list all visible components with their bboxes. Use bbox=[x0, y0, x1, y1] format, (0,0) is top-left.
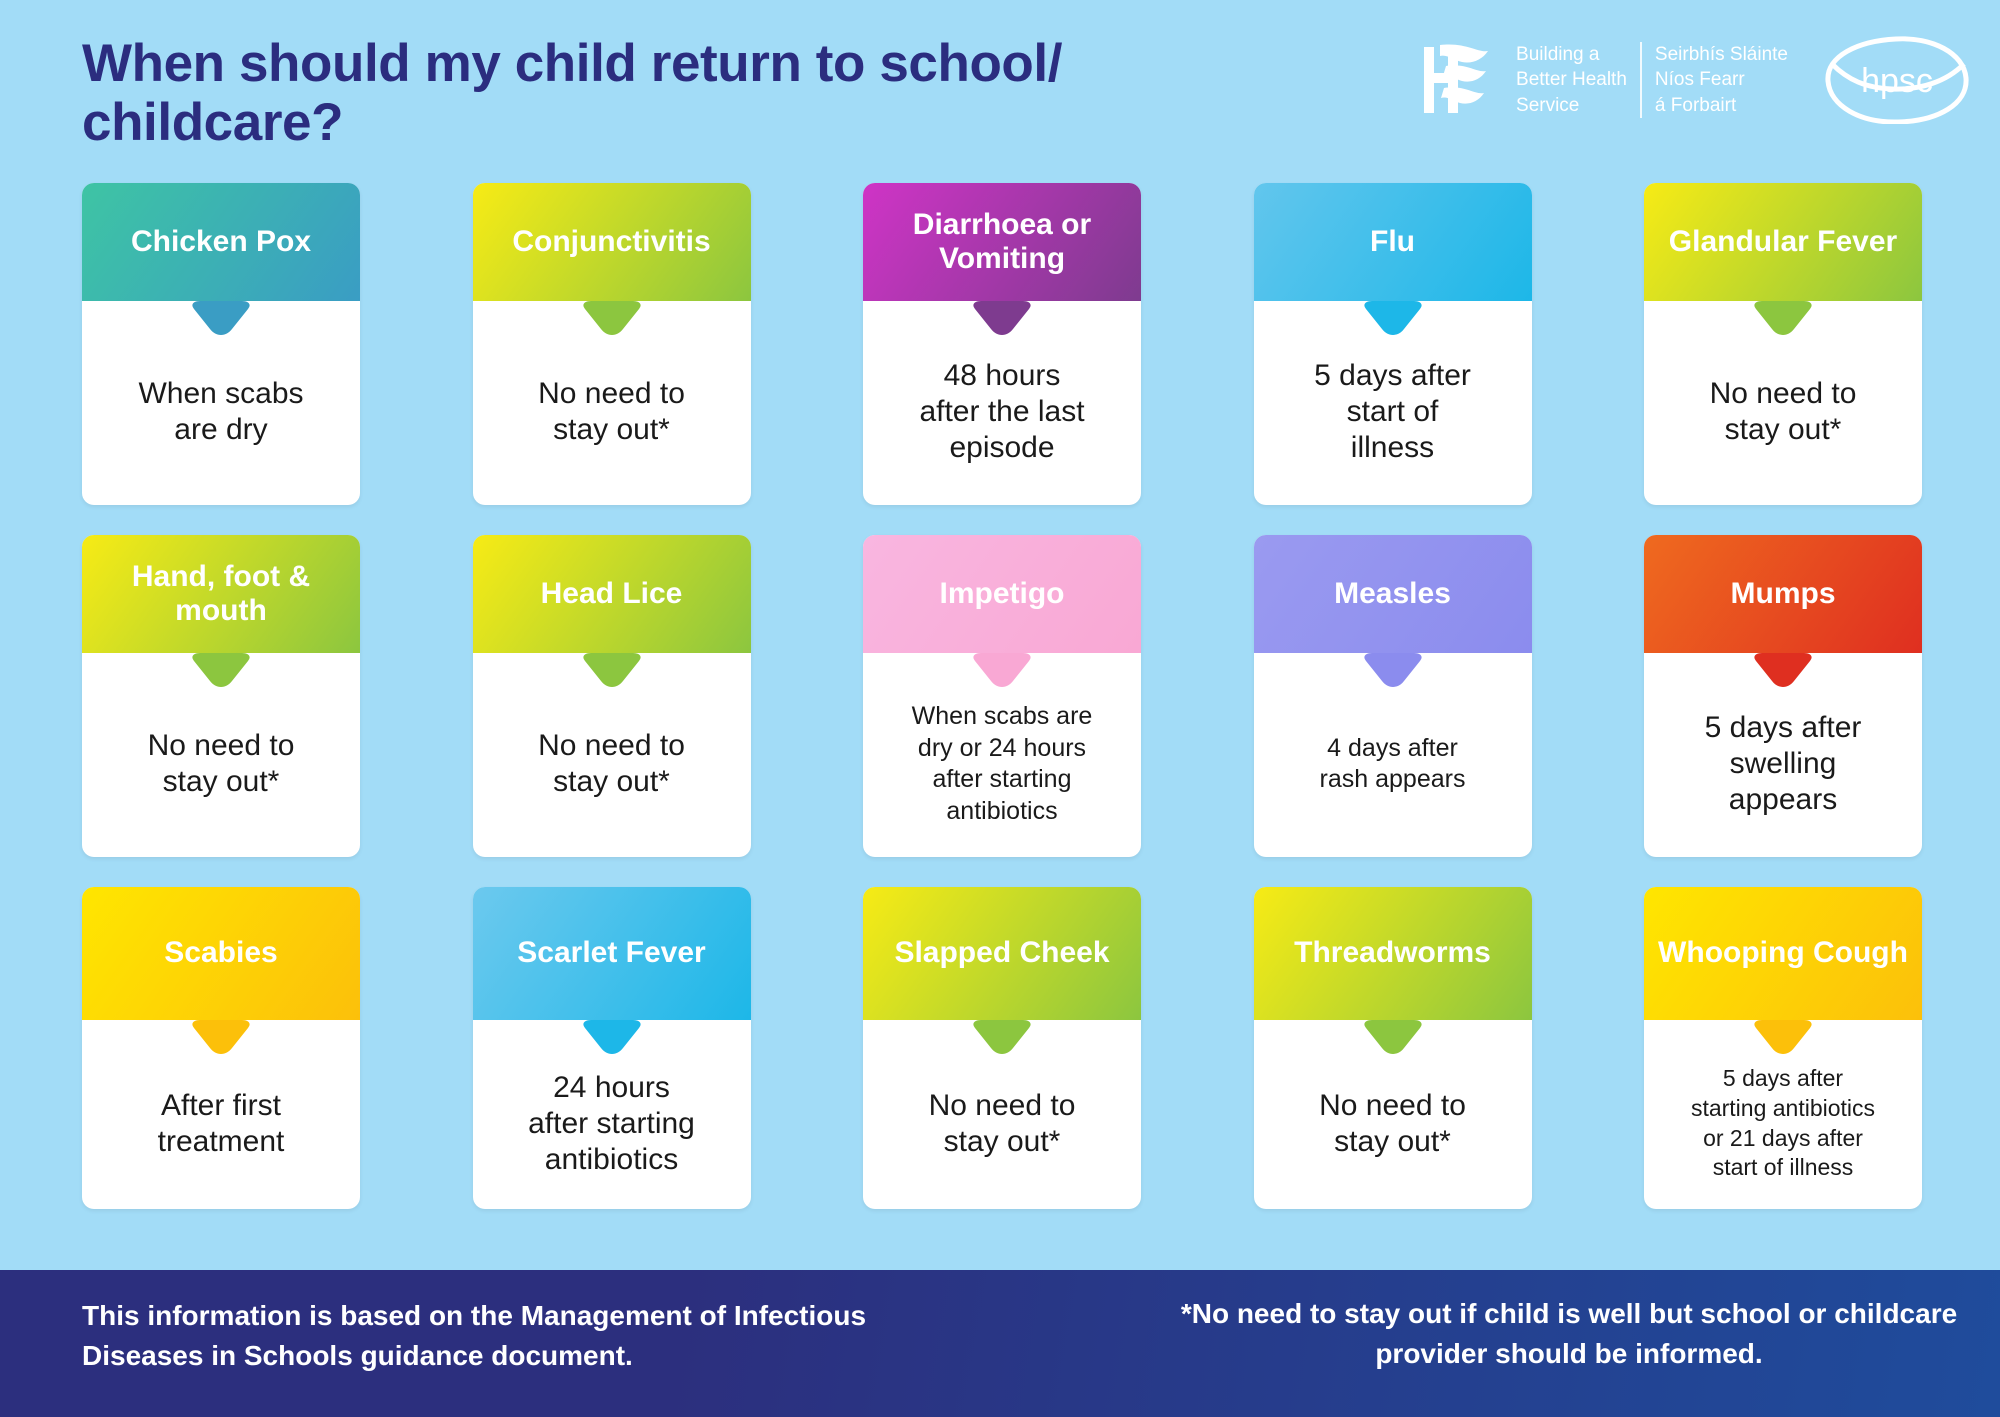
disease-card-conjunctivitis[interactable]: ConjunctivitisNo need to stay out* bbox=[473, 183, 751, 505]
card-advice-threadworms: No need to stay out* bbox=[1319, 1088, 1466, 1160]
card-header-head-lice: Head Lice bbox=[473, 535, 751, 653]
hse-tagline-english: Building a Better Health Service bbox=[1516, 42, 1627, 117]
card-title-impetigo: Impetigo bbox=[932, 577, 1073, 611]
disease-card-mumps[interactable]: Mumps5 days after swelling appears bbox=[1644, 535, 1922, 857]
card-header-slapped-cheek: Slapped Cheek bbox=[863, 887, 1141, 1020]
card-advice-mumps: 5 days after swelling appears bbox=[1705, 710, 1862, 818]
card-body-hand-foot-and-mouth: No need to stay out* bbox=[82, 653, 360, 857]
card-title-scabies: Scabies bbox=[156, 936, 285, 970]
card-title-diarrhoea-or-vomiting: Diarrhoea or Vomiting bbox=[863, 208, 1141, 276]
disease-card-scabies[interactable]: ScabiesAfter first treatment bbox=[82, 887, 360, 1209]
card-body-glandular-fever: No need to stay out* bbox=[1644, 301, 1922, 505]
card-title-flu: Flu bbox=[1362, 225, 1423, 259]
card-header-whooping-cough: Whooping Cough bbox=[1644, 887, 1922, 1020]
card-body-whooping-cough: 5 days after starting antibiotics or 21 … bbox=[1644, 1020, 1922, 1209]
card-advice-glandular-fever: No need to stay out* bbox=[1710, 376, 1857, 448]
card-header-conjunctivitis: Conjunctivitis bbox=[473, 183, 751, 301]
disease-card-whooping-cough[interactable]: Whooping Cough5 days after starting anti… bbox=[1644, 887, 1922, 1209]
card-advice-hand-foot-and-mouth: No need to stay out* bbox=[148, 728, 295, 800]
card-header-impetigo: Impetigo bbox=[863, 535, 1141, 653]
hse-logo-icon bbox=[1418, 43, 1502, 117]
disease-card-diarrhoea-or-vomiting[interactable]: Diarrhoea or Vomiting48 hours after the … bbox=[863, 183, 1141, 505]
card-title-glandular-fever: Glandular Fever bbox=[1661, 225, 1905, 259]
hse-tagline-irish: Seirbhís Sláinte Níos Fearr á Forbairt bbox=[1655, 42, 1788, 117]
disease-card-hand-foot-and-mouth[interactable]: Hand, foot & mouthNo need to stay out* bbox=[82, 535, 360, 857]
card-header-hand-foot-and-mouth: Hand, foot & mouth bbox=[82, 535, 360, 653]
asterisk-note: *No need to stay out if child is well bu… bbox=[1174, 1294, 1964, 1374]
card-header-chicken-pox: Chicken Pox bbox=[82, 183, 360, 301]
card-body-chicken-pox: When scabs are dry bbox=[82, 301, 360, 505]
card-body-conjunctivitis: No need to stay out* bbox=[473, 301, 751, 505]
card-advice-measles: 4 days after rash appears bbox=[1320, 733, 1466, 796]
card-header-measles: Measles bbox=[1254, 535, 1532, 653]
card-header-glandular-fever: Glandular Fever bbox=[1644, 183, 1922, 301]
page-header: When should my child return to school/ c… bbox=[0, 0, 2000, 183]
card-body-flu: 5 days after start of illness bbox=[1254, 301, 1532, 505]
card-body-scabies: After first treatment bbox=[82, 1020, 360, 1209]
hse-logo: Building a Better Health Service Seirbhí… bbox=[1418, 42, 1788, 117]
card-advice-scarlet-fever: 24 hours after starting antibiotics bbox=[528, 1070, 695, 1178]
disease-card-flu[interactable]: Flu5 days after start of illness bbox=[1254, 183, 1532, 505]
hse-tagline: Building a Better Health Service Seirbhí… bbox=[1516, 42, 1788, 117]
card-advice-flu: 5 days after start of illness bbox=[1314, 358, 1471, 466]
card-advice-impetigo: When scabs are dry or 24 hours after sta… bbox=[912, 701, 1093, 827]
card-body-mumps: 5 days after swelling appears bbox=[1644, 653, 1922, 857]
card-title-head-lice: Head Lice bbox=[533, 577, 691, 611]
card-header-scarlet-fever: Scarlet Fever bbox=[473, 887, 751, 1020]
card-body-diarrhoea-or-vomiting: 48 hours after the last episode bbox=[863, 301, 1141, 505]
disease-card-slapped-cheek[interactable]: Slapped CheekNo need to stay out* bbox=[863, 887, 1141, 1209]
card-title-chicken-pox: Chicken Pox bbox=[123, 225, 319, 259]
disease-card-scarlet-fever[interactable]: Scarlet Fever24 hours after starting ant… bbox=[473, 887, 751, 1209]
card-title-mumps: Mumps bbox=[1723, 577, 1844, 611]
card-title-hand-foot-and-mouth: Hand, foot & mouth bbox=[82, 560, 360, 628]
card-title-threadworms: Threadworms bbox=[1286, 936, 1499, 970]
card-advice-diarrhoea-or-vomiting: 48 hours after the last episode bbox=[919, 358, 1084, 466]
disease-card-chicken-pox[interactable]: Chicken PoxWhen scabs are dry bbox=[82, 183, 360, 505]
card-advice-head-lice: No need to stay out* bbox=[538, 728, 685, 800]
svg-text:hpsc: hpsc bbox=[1861, 62, 1933, 100]
card-header-diarrhoea-or-vomiting: Diarrhoea or Vomiting bbox=[863, 183, 1141, 301]
disease-card-measles[interactable]: Measles4 days after rash appears bbox=[1254, 535, 1532, 857]
disease-card-impetigo[interactable]: ImpetigoWhen scabs are dry or 24 hours a… bbox=[863, 535, 1141, 857]
card-header-threadworms: Threadworms bbox=[1254, 887, 1532, 1020]
disease-card-threadworms[interactable]: ThreadwormsNo need to stay out* bbox=[1254, 887, 1532, 1209]
card-title-whooping-cough: Whooping Cough bbox=[1650, 936, 1916, 970]
card-title-scarlet-fever: Scarlet Fever bbox=[509, 936, 713, 970]
card-body-threadworms: No need to stay out* bbox=[1254, 1020, 1532, 1209]
card-title-measles: Measles bbox=[1326, 577, 1459, 611]
card-body-scarlet-fever: 24 hours after starting antibiotics bbox=[473, 1020, 751, 1209]
hse-tagline-divider bbox=[1640, 42, 1642, 117]
hpsc-logo-icon: hpsc bbox=[1822, 36, 1972, 124]
logo-group: Building a Better Health Service Seirbhí… bbox=[1418, 36, 1972, 124]
card-header-scabies: Scabies bbox=[82, 887, 360, 1020]
card-body-head-lice: No need to stay out* bbox=[473, 653, 751, 857]
card-header-flu: Flu bbox=[1254, 183, 1532, 301]
disease-card-grid: Chicken PoxWhen scabs are dryConjunctivi… bbox=[82, 183, 1922, 1209]
card-advice-slapped-cheek: No need to stay out* bbox=[929, 1088, 1076, 1160]
page-title: When should my child return to school/ c… bbox=[82, 34, 1332, 153]
card-advice-chicken-pox: When scabs are dry bbox=[138, 376, 303, 448]
source-note: This information is based on the Managem… bbox=[82, 1296, 962, 1376]
card-body-slapped-cheek: No need to stay out* bbox=[863, 1020, 1141, 1209]
disease-card-head-lice[interactable]: Head LiceNo need to stay out* bbox=[473, 535, 751, 857]
card-body-measles: 4 days after rash appears bbox=[1254, 653, 1532, 857]
card-advice-scabies: After first treatment bbox=[158, 1088, 285, 1160]
card-body-impetigo: When scabs are dry or 24 hours after sta… bbox=[863, 653, 1141, 857]
card-advice-whooping-cough: 5 days after starting antibiotics or 21 … bbox=[1691, 1064, 1875, 1184]
disease-card-glandular-fever[interactable]: Glandular FeverNo need to stay out* bbox=[1644, 183, 1922, 505]
card-advice-conjunctivitis: No need to stay out* bbox=[538, 376, 685, 448]
card-title-slapped-cheek: Slapped Cheek bbox=[886, 936, 1117, 970]
card-title-conjunctivitis: Conjunctivitis bbox=[504, 225, 718, 259]
page-footer: This information is based on the Managem… bbox=[0, 1270, 2000, 1417]
card-header-mumps: Mumps bbox=[1644, 535, 1922, 653]
